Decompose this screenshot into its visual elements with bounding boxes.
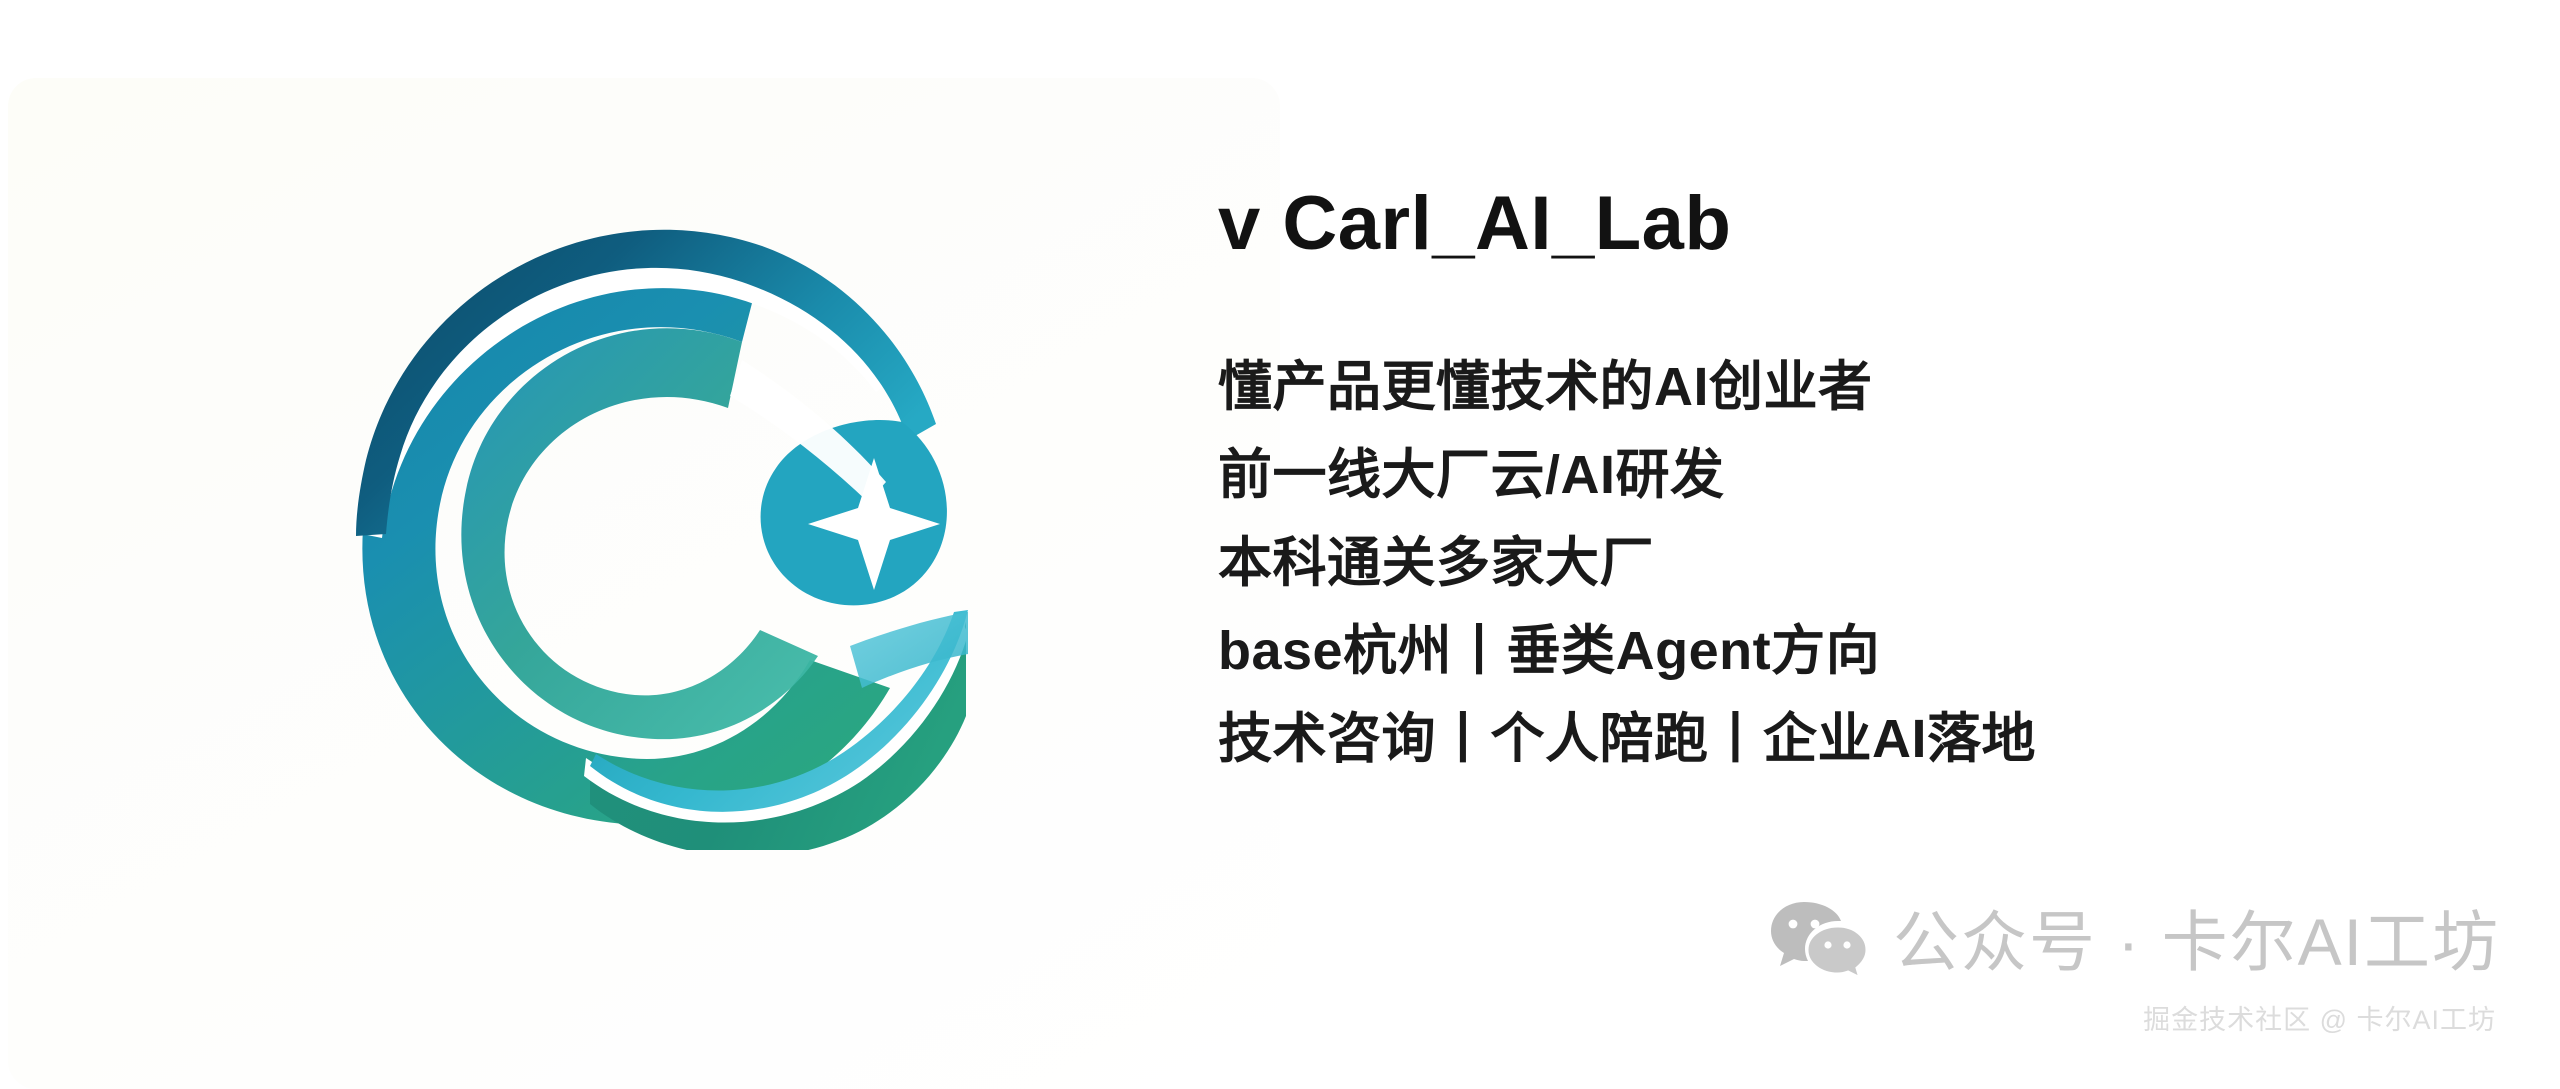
- watermark-main-row: 公众号 · 卡尔AI工坊: [1771, 900, 2500, 984]
- watermark-text: 公众号 · 卡尔AI工坊: [1893, 909, 2500, 975]
- profile-card-screen: v Carl_AI_Lab 懂产品更懂技术的AI创业者 前一线大厂云/AI研发 …: [0, 0, 2560, 1089]
- carl-c-swoosh-logo: [290, 160, 980, 850]
- watermark-subtext: 掘金技术社区 @ 卡尔AI工坊: [2143, 998, 2496, 1037]
- wechat-icon: [1771, 900, 1867, 984]
- tagline-item-3: 本科通关多家大厂: [1218, 536, 2498, 590]
- tagline-list: 懂产品更懂技术的AI创业者 前一线大厂云/AI研发 本科通关多家大厂 base杭…: [1218, 360, 2498, 766]
- tagline-item-1: 懂产品更懂技术的AI创业者: [1218, 360, 2498, 414]
- tagline-item-2: 前一线大厂云/AI研发: [1218, 448, 2498, 502]
- tagline-item-4: base杭州丨垂类Agent方向: [1218, 624, 2498, 678]
- watermark: 公众号 · 卡尔AI工坊 掘金技术社区 @ 卡尔AI工坊: [1771, 900, 2500, 1037]
- tagline-item-5: 技术咨询丨个人陪跑丨企业AI落地: [1218, 712, 2498, 766]
- page-title: v Carl_AI_Lab: [1218, 186, 2498, 262]
- profile-text-column: v Carl_AI_Lab 懂产品更懂技术的AI创业者 前一线大厂云/AI研发 …: [1218, 186, 2498, 766]
